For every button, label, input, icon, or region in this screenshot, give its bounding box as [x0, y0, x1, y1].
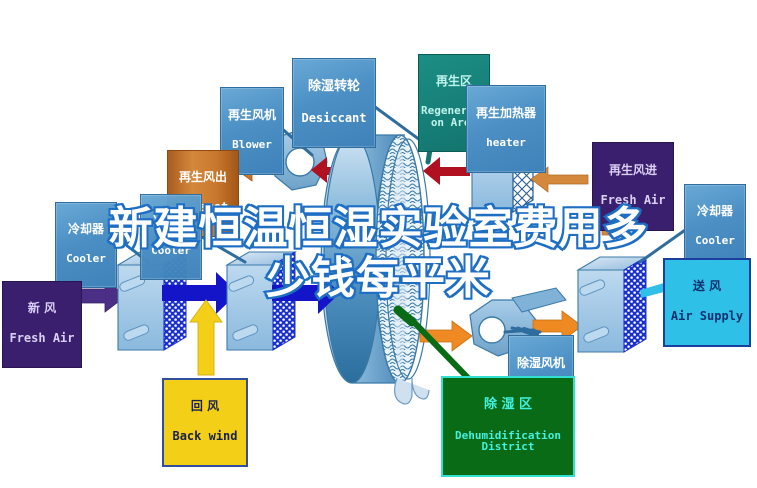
- label-air-supply: 送 风 Air Supply: [663, 258, 751, 347]
- label-regen-heater: 再生加热器 heater: [466, 85, 546, 173]
- label-fresh-air-inlet-en: Fresh Air: [5, 332, 79, 345]
- drain-pan: [395, 378, 429, 404]
- label-regen-fresh-air-cn: 再生风进: [595, 164, 671, 177]
- label-cooler-left-outer-cn: 冷却器: [58, 223, 114, 236]
- label-regen-fresh-air: 再生风进 Fresh Air: [592, 142, 674, 231]
- label-regen-heater-en: heater: [469, 137, 543, 149]
- label-back-wind-en: Back wind: [166, 430, 244, 443]
- label-cooler-right: 冷却器 Cooler: [684, 184, 746, 270]
- label-cooler-left-outer: 冷却器 Cooler: [55, 202, 117, 288]
- label-dehumidification-district-en: Dehumidification District: [445, 430, 571, 454]
- label-regen-fresh-air-en: Fresh Air: [595, 194, 671, 207]
- label-air-supply-cn: 送 风: [667, 280, 747, 293]
- label-dehumidification-district-cn: 除 湿 区: [445, 398, 571, 412]
- label-exhaust-cn: 再生风出: [170, 171, 236, 184]
- label-desiccant-rotor-cn: 除湿转轮: [295, 80, 373, 94]
- label-fresh-air-inlet-cn: 新 风: [5, 302, 79, 315]
- label-fresh-air-inlet: 新 风 Fresh Air: [2, 281, 82, 368]
- label-back-wind-cn: 回 风: [166, 400, 244, 413]
- label-cooler-right-en: Cooler: [687, 235, 743, 247]
- label-dehumidification-district: 除 湿 区 Dehumidification District: [441, 376, 575, 477]
- desiccant-wheel: [321, 135, 430, 383]
- label-cooler-right-cn: 冷却器: [687, 205, 743, 218]
- label-cooler-left-outer-en: Cooler: [58, 253, 114, 265]
- label-air-supply-en: Air Supply: [667, 310, 747, 323]
- label-cooler-left-inner-en: Cooler: [143, 245, 199, 257]
- label-desiccant-rotor: 除湿转轮 Desiccant: [292, 58, 376, 148]
- label-back-wind: 回 风 Back wind: [162, 378, 248, 467]
- label-cooler-left-inner-cn: 冷却器: [143, 215, 199, 228]
- label-cooler-left-inner: 冷却器 Cooler: [140, 194, 202, 280]
- label-dehumid-blower-cn: 除湿风机: [511, 357, 571, 370]
- label-regen-heater-cn: 再生加热器: [469, 107, 543, 120]
- label-desiccant-rotor-en: Desiccant: [295, 112, 373, 125]
- diagram-canvas: 除湿转轮 Desiccant 再生风机 Blower 再生区 Regenerat…: [0, 0, 757, 488]
- label-regen-blower-cn: 再生风机: [223, 109, 281, 122]
- cooler-unit-3: [578, 257, 646, 352]
